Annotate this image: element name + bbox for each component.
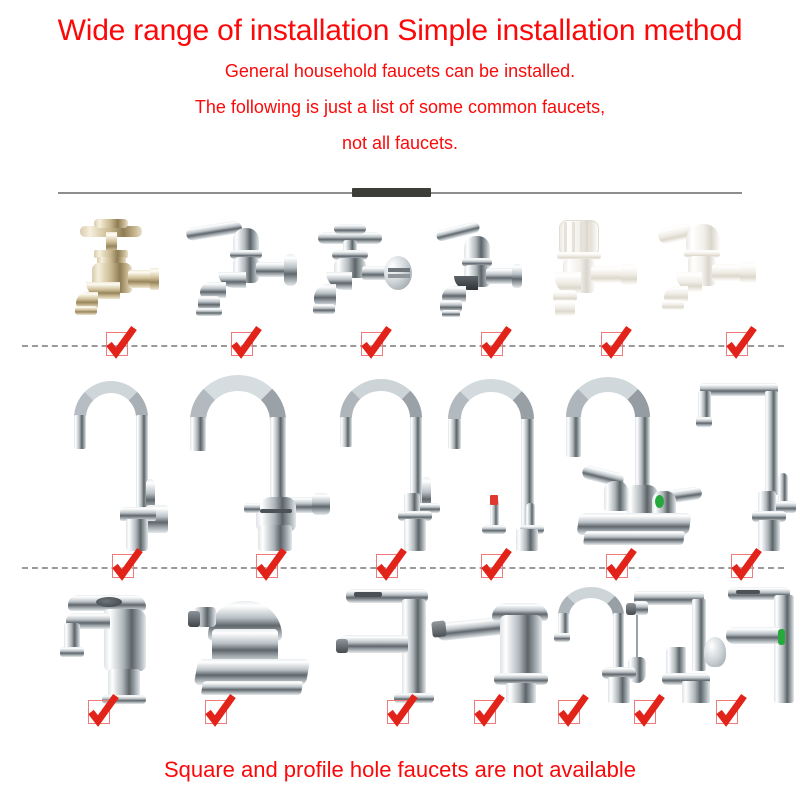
check-icon — [107, 328, 137, 360]
check-icon-r1-3 — [361, 332, 387, 358]
check-icon — [206, 696, 236, 728]
faucet-row-wall-mount — [0, 205, 800, 330]
check-icon-r2-3 — [376, 554, 402, 580]
check-icon — [388, 696, 418, 728]
check-icon-r3-3 — [387, 700, 413, 726]
check-icon-r3-5 — [558, 700, 584, 726]
check-icon — [607, 550, 637, 582]
check-icon-r2-5 — [606, 554, 632, 580]
footer-caption: Square and profile hole faucets are not … — [0, 757, 800, 783]
check-icon-r1-1 — [106, 332, 132, 358]
page-title: Wide range of installation Simple instal… — [0, 14, 800, 48]
check-icon-r3-2 — [205, 700, 231, 726]
faucet-chrome-gooseneck-wide-lever — [182, 373, 332, 553]
check-icon-r3-6 — [634, 700, 660, 726]
check-icon — [475, 696, 505, 728]
faucet-chrome-low-arc-widespread-basin — [176, 585, 326, 705]
faucet-chrome-square-gooseneck-lever — [690, 373, 800, 553]
faucet-chrome-lever-short-bibcock — [418, 210, 538, 330]
subtitle-line-1: General household faucets can be install… — [0, 60, 800, 82]
check-icon — [362, 328, 392, 360]
check-icon — [602, 328, 632, 360]
check-icon-r2-6 — [731, 554, 757, 580]
check-icon — [232, 328, 262, 360]
check-icon-r1-6 — [726, 332, 752, 358]
header-block: Wide range of installation Simple instal… — [0, 0, 800, 154]
check-icon-r3-1 — [88, 700, 114, 726]
subtitle-line-2: The following is just a list of some com… — [0, 96, 800, 118]
top-divider-center-bar — [352, 188, 431, 197]
check-icon — [559, 696, 589, 728]
faucet-chrome-single-lever-basin-tall — [48, 585, 178, 705]
faucet-chrome-gooseneck-side-lever — [60, 373, 180, 553]
check-icon-r3-7 — [716, 700, 742, 726]
faucet-brass-cross-handle-bibcock — [62, 210, 172, 330]
check-icon-r3-4 — [474, 700, 500, 726]
check-icon — [482, 550, 512, 582]
subtitle-line-3: not all faucets. — [0, 132, 800, 154]
check-icon-r1-5 — [601, 332, 627, 358]
check-icon-r2-4 — [481, 554, 507, 580]
check-icon — [482, 328, 512, 360]
faucet-white-plastic-knob-bibcock — [535, 210, 653, 330]
faucet-chrome-centerset-two-handle-deck — [560, 373, 710, 553]
faucet-chrome-pull-down-square-spout — [620, 585, 740, 705]
faucet-chrome-gooseneck-tall-lever — [330, 373, 448, 553]
faucet-row-basin — [0, 585, 800, 705]
check-icon — [732, 550, 762, 582]
top-divider — [0, 186, 800, 200]
faucet-row-kitchen-gooseneck — [0, 368, 800, 553]
check-icon — [717, 696, 747, 728]
faucet-white-plastic-lever-bibcock — [650, 210, 770, 330]
check-icon — [257, 550, 287, 582]
faucet-chrome-tall-vessel-basin-faucet — [726, 585, 800, 705]
check-icon-r1-2 — [231, 332, 257, 358]
check-icon — [89, 696, 119, 728]
check-icon-r2-2 — [256, 554, 282, 580]
check-icon — [635, 696, 665, 728]
check-icon-r1-4 — [481, 332, 507, 358]
check-icon-r2-1 — [112, 554, 138, 580]
check-icon — [377, 550, 407, 582]
faucet-chrome-lever-handle-bibcock — [178, 210, 303, 330]
check-icon — [727, 328, 757, 360]
check-icon — [113, 550, 143, 582]
faucet-chrome-cross-handle-wall-faucet — [300, 210, 420, 330]
faucet-chrome-gooseneck-dual-handle — [442, 373, 572, 553]
